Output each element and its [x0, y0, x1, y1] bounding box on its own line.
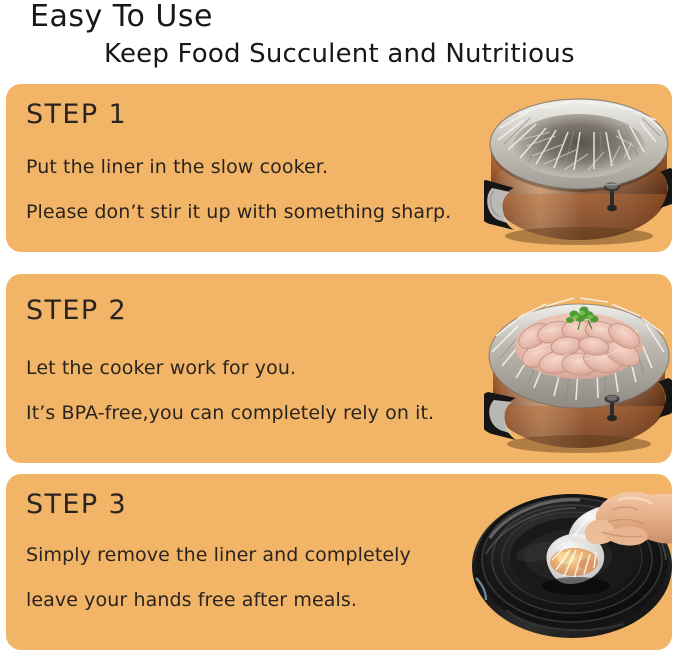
step-2-line-1: Let the cooker work for you.	[26, 357, 296, 380]
header-block: Easy To Use Keep Food Succulent and Nutr…	[0, 0, 679, 80]
step-1-title: STEP 1	[26, 100, 127, 130]
page-subtitle: Keep Food Succulent and Nutritious	[104, 38, 575, 70]
step-card-3: STEP 3 Simply remove the liner and compl…	[6, 474, 672, 650]
step-2-line-2: It’s BPA-free,you can completely rely on…	[26, 402, 434, 425]
step-3-title: STEP 3	[26, 490, 127, 520]
slow-cooker-with-raw-chicken-photo	[484, 274, 672, 463]
step-2-title: STEP 2	[26, 296, 127, 326]
page-title: Easy To Use	[30, 0, 213, 35]
slow-cooker-with-empty-liner-photo	[484, 84, 672, 252]
step-1-line-2: Please don’t stir it up with something s…	[26, 201, 451, 224]
step-3-line-2: leave your hands free after meals.	[26, 589, 357, 612]
hand-removing-used-liner-photo	[472, 474, 672, 650]
step-card-1: STEP 1 Put the liner in the slow cooker.…	[6, 84, 672, 252]
step-card-2: STEP 2 Let the cooker work for you. It’s…	[6, 274, 672, 463]
step-1-line-1: Put the liner in the slow cooker.	[26, 156, 328, 179]
step-3-line-1: Simply remove the liner and completely	[26, 544, 411, 567]
